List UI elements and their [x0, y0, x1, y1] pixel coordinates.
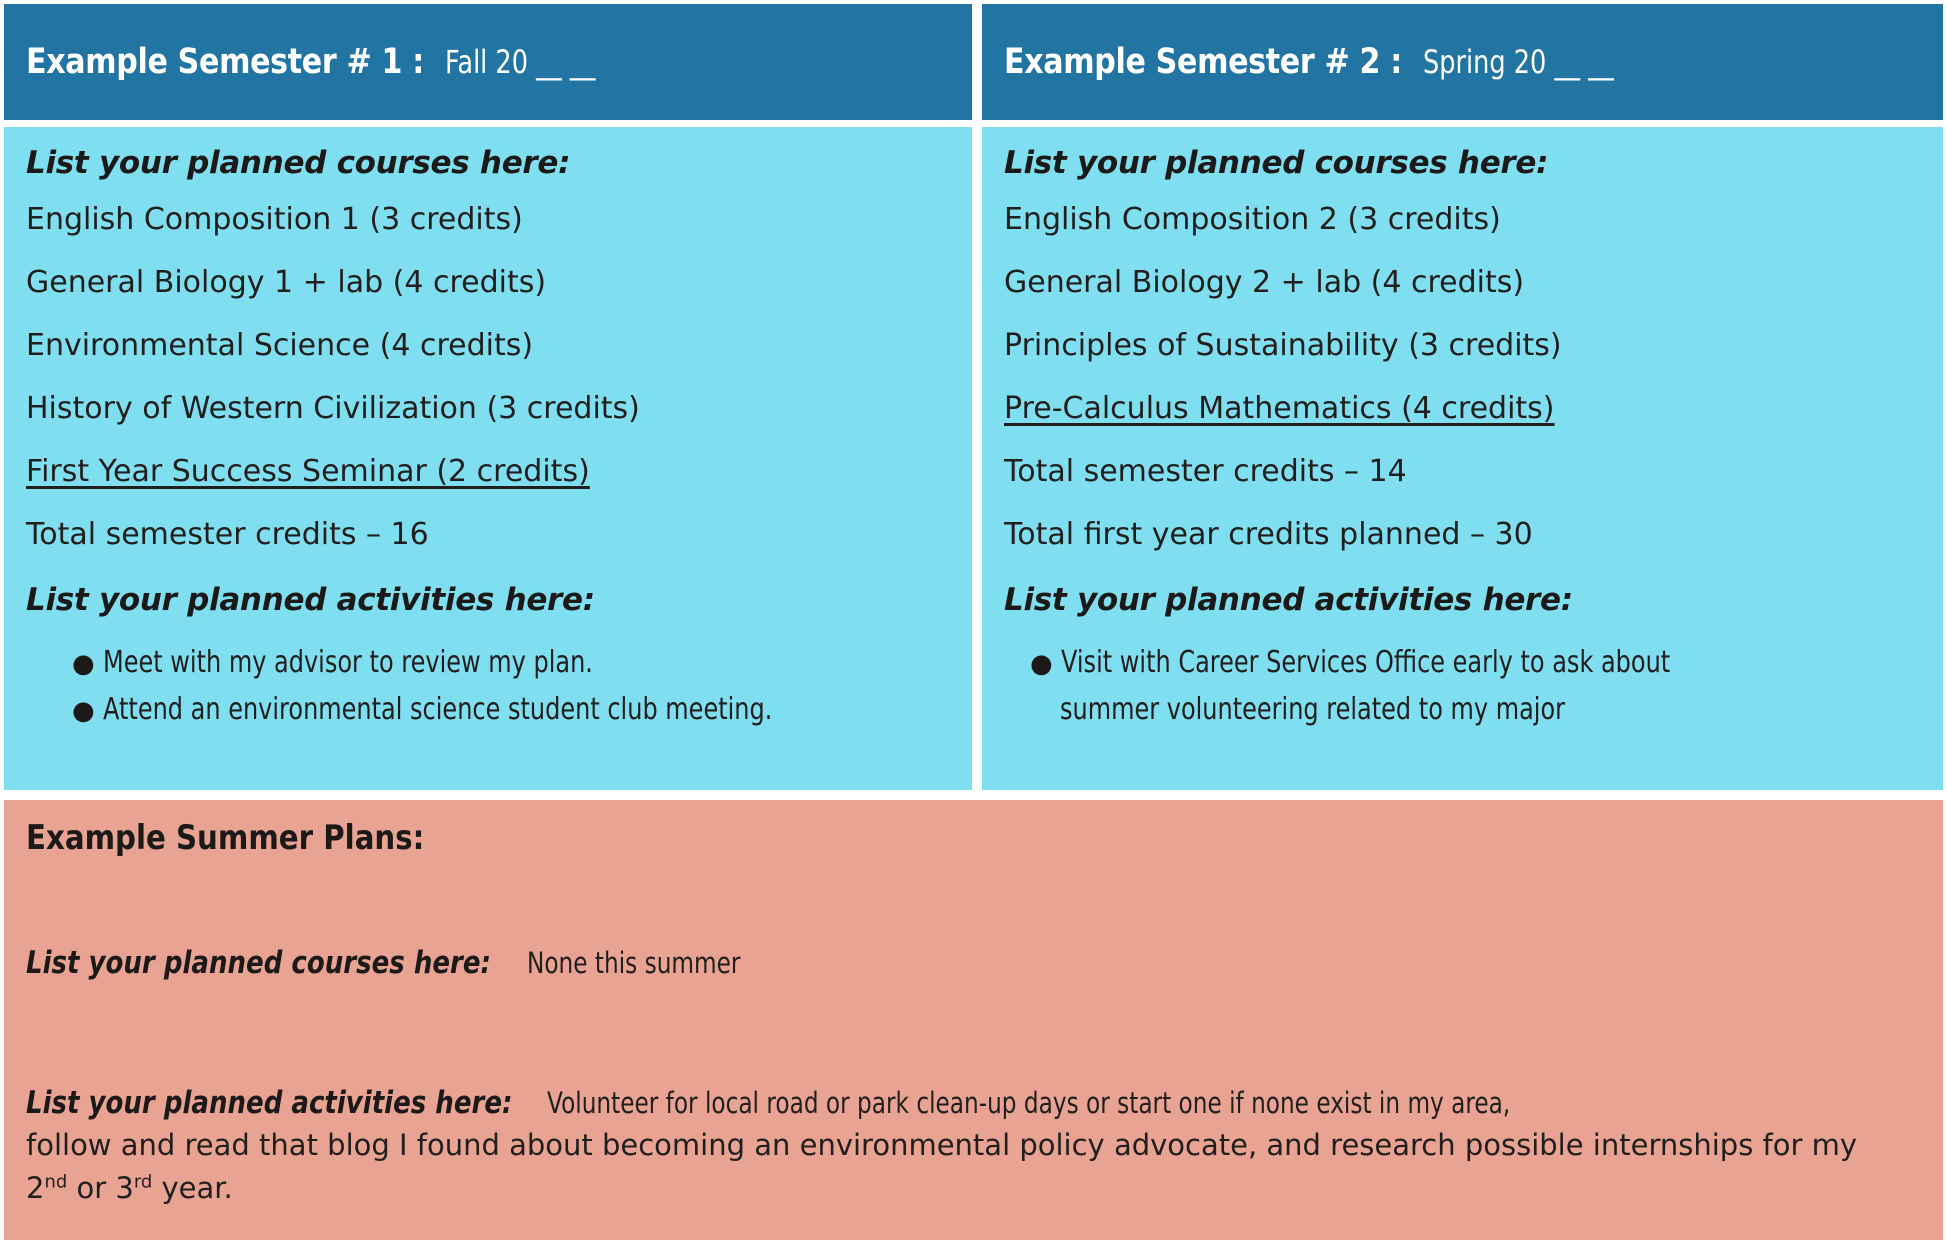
list-item: English Composition 1 (3 credits)	[26, 202, 523, 237]
summer-activities-line-2: follow and read that blog I found about …	[26, 1128, 1857, 1162]
semester-2-courses-label: List your planned courses here:	[1004, 145, 1548, 181]
list-item: First Year Success Seminar (2 credits)	[26, 454, 590, 489]
list-item: General Biology 2 + lab (4 credits)	[1004, 265, 1524, 300]
list-item: Total semester credits – 16	[26, 517, 429, 552]
summer-activities-line-1: Volunteer for local road or park clean-u…	[547, 1086, 1510, 1120]
list-item: History of Western Civilization (3 credi…	[26, 391, 640, 426]
summer-activities-label: List your planned activities here:	[26, 1085, 512, 1121]
semester-2-header: Example Semester # 2 : Spring 20 __ __	[982, 4, 1943, 120]
semester-1-courses-label: List your planned courses here:	[26, 145, 570, 181]
list-item: Principles of Sustainability (3 credits)	[1004, 328, 1562, 363]
list-item: ● Visit with Career Services Office earl…	[1030, 645, 1822, 680]
summer-courses-label: List your planned courses here:	[26, 945, 491, 981]
bullet-icon: ●	[72, 698, 95, 724]
list-item-continuation: summer volunteering related to my major	[1060, 692, 1691, 727]
list-item: English Composition 2 (3 credits)	[1004, 202, 1501, 237]
semester-1-body: List your planned courses here: English …	[4, 127, 972, 790]
summer-courses-value: None this summer	[527, 946, 740, 980]
semester-1-header-strong: Example Semester # 1 :	[26, 42, 424, 82]
semester-2-activities-label: List your planned activities here:	[1004, 582, 1573, 618]
list-item: General Biology 1 + lab (4 credits)	[26, 265, 546, 300]
list-item: Total semester credits – 14	[1004, 454, 1407, 489]
ordinal-tail: year.	[152, 1171, 232, 1205]
bullet-icon: ●	[1030, 651, 1053, 677]
semester-1-header-term: Fall 20 __ __	[445, 43, 595, 81]
list-item: ● Attend an environmental science studen…	[72, 692, 939, 727]
ordinal-2nd-suffix: nd	[44, 1171, 67, 1192]
summer-courses-row: List your planned courses here: None thi…	[26, 945, 793, 981]
semester-1-header: Example Semester # 1 : Fall 20 __ __	[4, 4, 972, 120]
semester-planner-worksheet: Example Semester # 1 : Fall 20 __ __ Exa…	[0, 0, 1947, 1244]
semester-1-activities-label: List your planned activities here:	[26, 582, 595, 618]
summer-activities-row: List your planned activities here: Volun…	[26, 1085, 1751, 1121]
list-item: ● Meet with my advisor to review my plan…	[72, 645, 715, 680]
ordinal-joiner: or 3	[67, 1171, 134, 1205]
bullet-icon: ●	[72, 651, 95, 677]
list-item: Total first year credits planned – 30	[1004, 517, 1533, 552]
semester-2-body: List your planned courses here: English …	[982, 127, 1943, 790]
ordinal-3rd-suffix: rd	[134, 1171, 152, 1192]
ordinal-2nd-base: 2	[26, 1171, 44, 1205]
summer-activities-line-3: 2nd or 3rd year.	[26, 1171, 233, 1205]
semester-2-header-strong: Example Semester # 2 :	[1004, 42, 1402, 82]
list-item: Pre-Calculus Mathematics (4 credits)	[1004, 391, 1555, 426]
semester-2-header-term: Spring 20 __ __	[1423, 43, 1614, 81]
summer-section: Example Summer Plans: List your planned …	[4, 800, 1943, 1240]
summer-title: Example Summer Plans:	[26, 818, 424, 858]
list-item: Environmental Science (4 credits)	[26, 328, 533, 363]
